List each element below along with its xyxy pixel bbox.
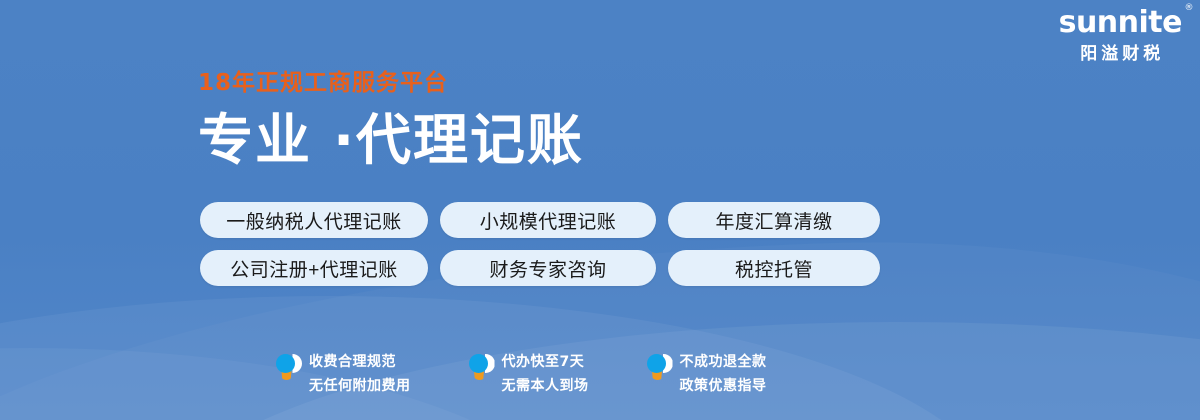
droplet-badge-icon — [276, 352, 300, 382]
droplet-badge-icon — [647, 352, 671, 382]
service-pill-expert-consulting[interactable]: 财务专家咨询 — [440, 250, 656, 286]
droplet-badge-icon — [469, 352, 493, 382]
page-title: 专业 ·代理记账 — [198, 111, 584, 170]
feature-line-1: 收费合理规范 — [309, 354, 396, 370]
feature-line-1: 代办快至7天 — [502, 354, 585, 370]
hero-copy: 18年正规工商服务平台 专业 ·代理记账 — [198, 72, 584, 170]
brand-logo[interactable]: sunnite ® 阳溢财税 — [1059, 8, 1182, 62]
logo-subtitle: 阳溢财税 — [1059, 45, 1182, 62]
service-pill-tax-control-hosting[interactable]: 税控托管 — [668, 250, 880, 286]
feature-text: 代办快至7天 无需本人到场 — [502, 350, 589, 398]
service-pill-annual-settlement[interactable]: 年度汇算清缴 — [668, 202, 880, 238]
feature-item: 代办快至7天 无需本人到场 — [469, 350, 589, 398]
disc-shape — [469, 354, 488, 373]
feature-line-1: 不成功退全款 — [680, 354, 767, 370]
service-pill-general-taxpayer[interactable]: 一般纳税人代理记账 — [200, 202, 428, 238]
service-pill-small-scale[interactable]: 小规模代理记账 — [440, 202, 656, 238]
feature-text: 收费合理规范 无任何附加费用 — [309, 350, 411, 398]
hero-eyebrow: 18年正规工商服务平台 — [198, 72, 584, 95]
service-pill-grid: 一般纳税人代理记账 小规模代理记账 年度汇算清缴 公司注册+代理记账 财务专家咨… — [200, 202, 880, 286]
registered-trademark-icon: ® — [1185, 4, 1194, 13]
service-pill-company-registration[interactable]: 公司注册+代理记账 — [200, 250, 428, 286]
disc-shape — [647, 354, 666, 373]
feature-line-2: 无需本人到场 — [502, 378, 589, 394]
feature-item: 不成功退全款 政策优惠指导 — [647, 350, 767, 398]
feature-line-2: 无任何附加费用 — [309, 378, 411, 394]
promo-banner: sunnite ® 阳溢财税 18年正规工商服务平台 专业 ·代理记账 一般纳税… — [0, 0, 1200, 420]
logo-wordmark: sunnite ® — [1059, 8, 1182, 38]
feature-text: 不成功退全款 政策优惠指导 — [680, 350, 767, 398]
logo-wordmark-text: sunnite — [1059, 5, 1182, 40]
disc-shape — [276, 354, 295, 373]
feature-line-2: 政策优惠指导 — [680, 378, 767, 394]
feature-item: 收费合理规范 无任何附加费用 — [276, 350, 411, 398]
feature-strip: 收费合理规范 无任何附加费用 代办快至7天 无需本人到场 不成功退全款 — [276, 350, 767, 398]
